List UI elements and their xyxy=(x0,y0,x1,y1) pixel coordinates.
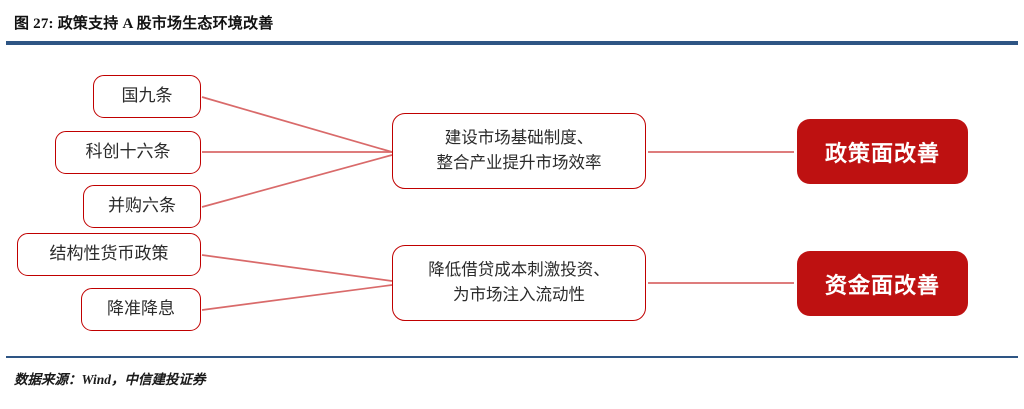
left-node-label: 国九条 xyxy=(122,85,173,108)
middle-node-text: 建设市场基础制度、 整合产业提升市场效率 xyxy=(437,126,602,176)
left-node-guojiutiao[interactable]: 国九条 xyxy=(93,75,201,118)
right-node-label: 资金面改善 xyxy=(825,268,940,300)
middle-node-funding[interactable]: 降低借贷成本刺激投资、 为市场注入流动性 xyxy=(392,245,646,321)
connector-binggou xyxy=(202,155,392,207)
footer-rule xyxy=(6,356,1018,358)
diagram-canvas: 国九条 科创十六条 并购六条 结构性货币政策 降准降息 建设市场基础制度、 整合… xyxy=(0,45,1024,355)
left-node-label: 结构性货币政策 xyxy=(50,243,169,266)
source-note: 数据来源：Wind，中信建投证券 xyxy=(14,368,206,388)
middle-node-line2: 为市场注入流动性 xyxy=(428,283,610,308)
right-node-label: 政策面改善 xyxy=(825,136,940,168)
right-node-policy-improvement[interactable]: 政策面改善 xyxy=(797,119,968,184)
middle-node-line2: 整合产业提升市场效率 xyxy=(437,151,602,176)
left-node-label: 降准降息 xyxy=(107,298,175,321)
left-node-binggou-liutiao[interactable]: 并购六条 xyxy=(83,185,201,228)
left-node-kechuang-shiliutiao[interactable]: 科创十六条 xyxy=(55,131,201,174)
middle-node-policy[interactable]: 建设市场基础制度、 整合产业提升市场效率 xyxy=(392,113,646,189)
middle-node-line1: 建设市场基础制度、 xyxy=(437,126,602,151)
connector-guojiutiao xyxy=(202,97,392,152)
left-node-jiangzhun-jiangxi[interactable]: 降准降息 xyxy=(81,288,201,331)
connector-jiangzhun xyxy=(202,285,392,310)
figure-title: 图 27: 政策支持 A 股市场生态环境改善 xyxy=(14,12,273,33)
left-node-jiegouxing-huobi-zhengce[interactable]: 结构性货币政策 xyxy=(17,233,201,276)
right-node-funding-improvement[interactable]: 资金面改善 xyxy=(797,251,968,316)
left-node-label: 科创十六条 xyxy=(86,141,171,164)
middle-node-line1: 降低借贷成本刺激投资、 xyxy=(428,258,610,283)
middle-node-text: 降低借贷成本刺激投资、 为市场注入流动性 xyxy=(428,258,610,308)
connector-huobi xyxy=(202,255,392,281)
left-node-label: 并购六条 xyxy=(108,195,176,218)
